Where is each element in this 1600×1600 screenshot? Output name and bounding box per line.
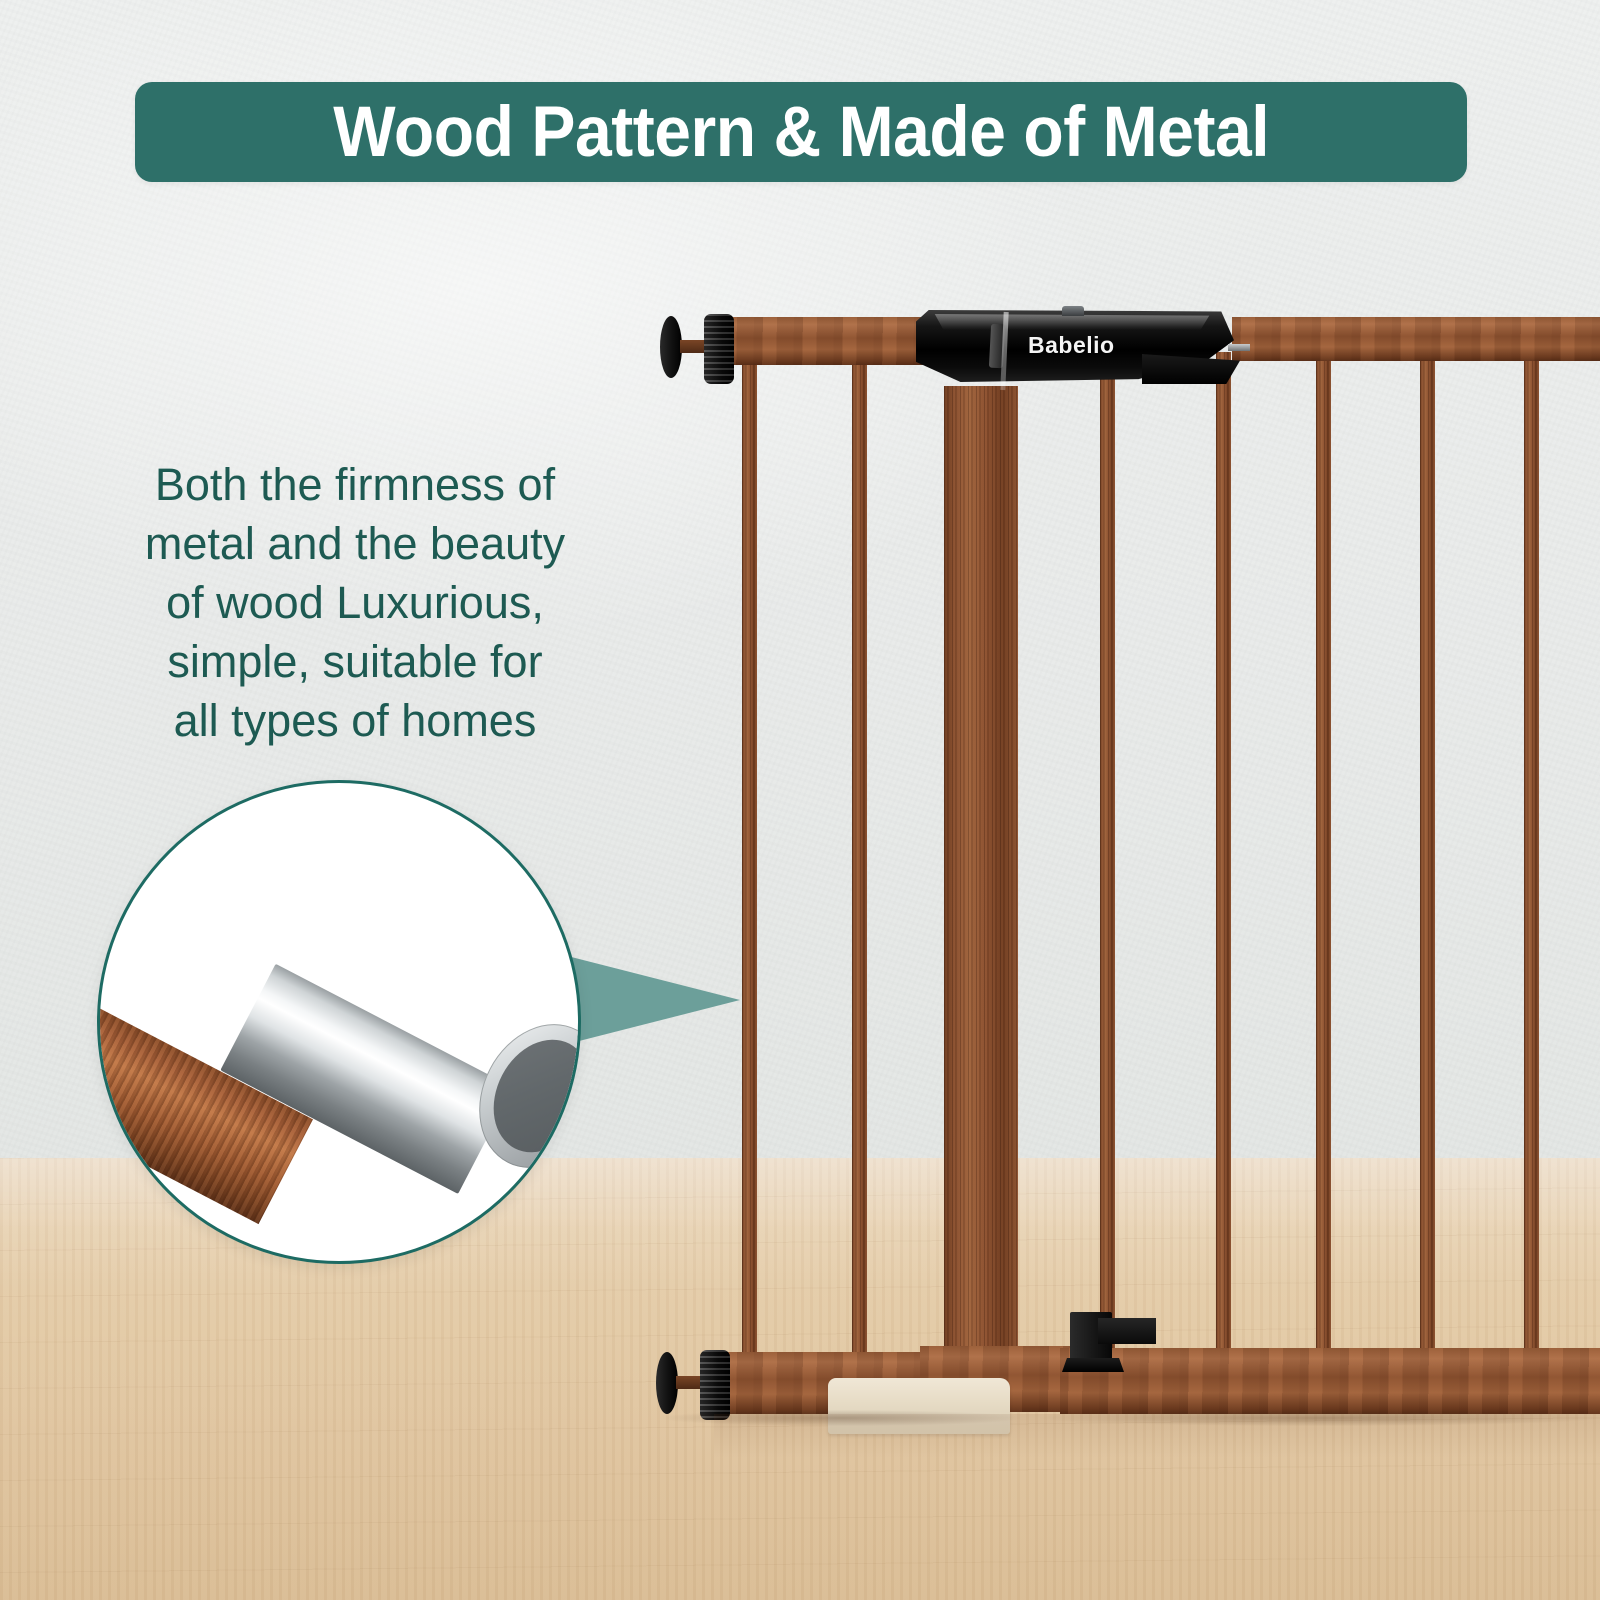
gate-door-post: [944, 386, 1018, 1366]
wall-pad: [660, 316, 682, 378]
bottom-hinge-bracket: [1062, 1312, 1144, 1368]
product-marketing-image: Babelio Wood Pattern & Made of Metal Bot…: [0, 0, 1600, 1600]
latch-safety-pin[interactable]: [1062, 306, 1084, 316]
description-text: Both the firmness of metal and the beaut…: [110, 455, 600, 750]
gate-slat: [1216, 352, 1231, 1352]
brand-logo: Babelio: [1028, 332, 1115, 359]
latch-tail: [1142, 354, 1240, 384]
gate-top-rail-left: [714, 317, 930, 365]
title-banner: Wood Pattern & Made of Metal: [135, 82, 1467, 182]
gate-slat: [852, 360, 867, 1360]
gate-slat: [742, 360, 757, 1360]
gate-slat: [1100, 355, 1115, 1355]
gate-slat: [1524, 352, 1539, 1352]
tube-hollow-bore: [475, 1023, 581, 1169]
gate-slat: [1316, 352, 1331, 1352]
hinge-horizontal-arm: [1098, 1318, 1156, 1344]
banner-title: Wood Pattern & Made of Metal: [333, 97, 1269, 168]
latch-rod-stub: [1228, 344, 1250, 351]
latch-gloss-highlight: [926, 314, 1218, 330]
gate-floor-reflection: [714, 1414, 1600, 1458]
zoom-callout-circle: [97, 780, 581, 1264]
gate-top-rail-right: [1232, 317, 1600, 361]
hinge-foot: [1062, 1358, 1124, 1372]
wall-pad: [656, 1352, 678, 1414]
gate-slat: [1420, 352, 1435, 1352]
adjustment-dial[interactable]: [704, 314, 734, 384]
gate-latch-housing[interactable]: Babelio: [916, 310, 1234, 394]
